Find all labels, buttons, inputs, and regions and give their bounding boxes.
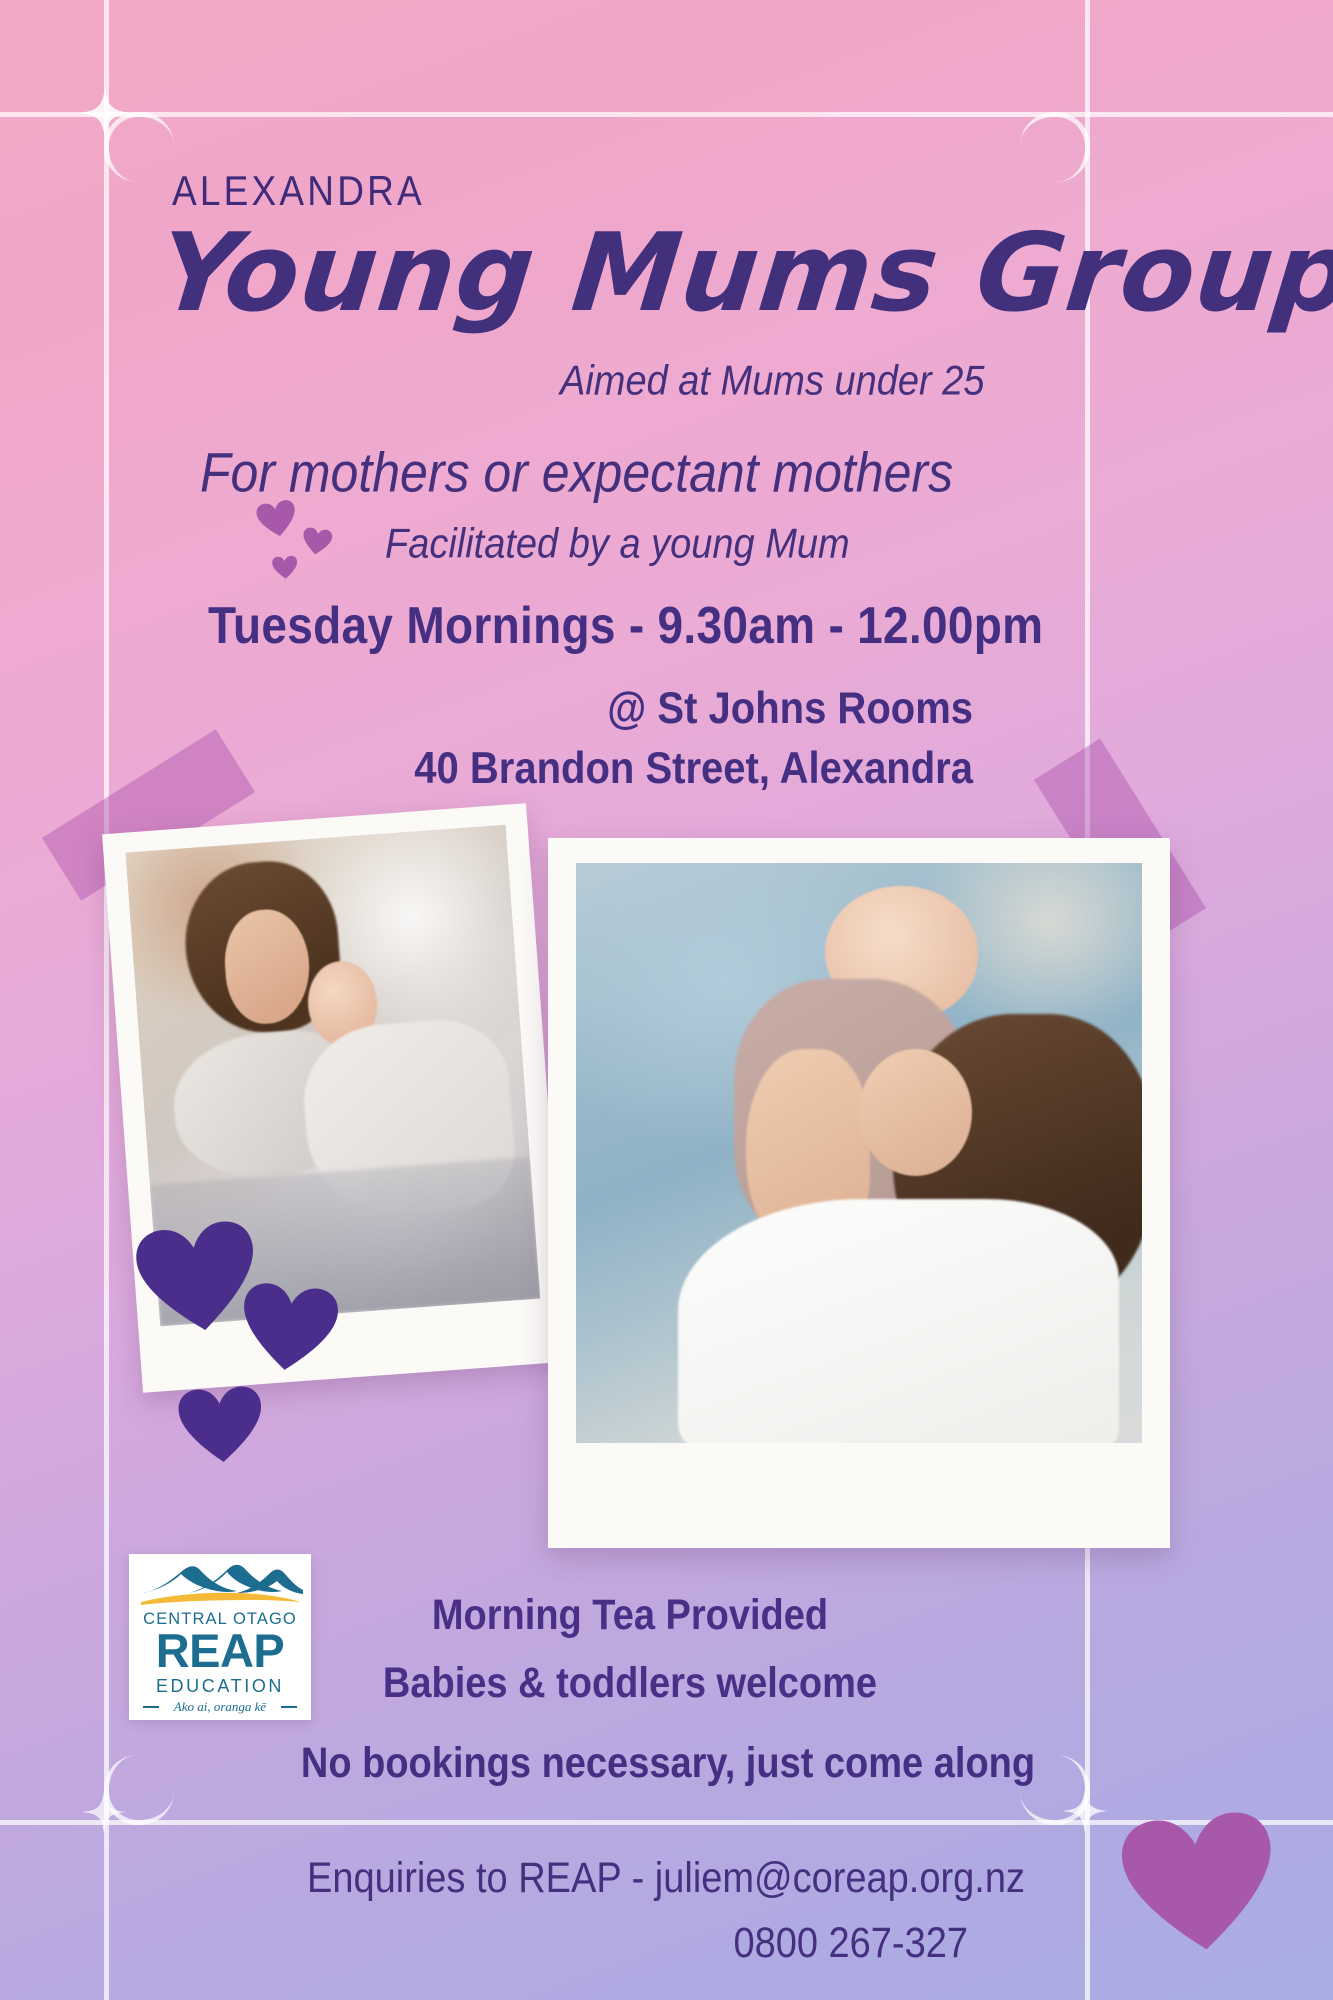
- contact-phone[interactable]: 0800 267-327: [733, 1920, 968, 1968]
- kicker-text: ALEXANDRA: [172, 168, 425, 215]
- poster-canvas: ALEXANDRA Young Mums Group Aimed at Mums…: [0, 0, 1333, 2000]
- note-no-bookings: No bookings necessary, just come along: [301, 1740, 1035, 1788]
- audience-line: For mothers or expectant mothers: [200, 440, 953, 505]
- schedule-line: Tuesday Mornings - 9.30am - 12.00pm: [208, 595, 1043, 655]
- logo-org-sub: EDUCATION: [129, 1676, 311, 1697]
- contact-email-line[interactable]: Enquiries to REAP - juliem@coreap.org.nz: [307, 1855, 1025, 1903]
- note-morning-tea: Morning Tea Provided: [432, 1592, 828, 1640]
- facilitator-line: Facilitated by a young Mum: [385, 521, 850, 568]
- logo-org-main: REAP: [129, 1627, 311, 1674]
- note-babies-welcome: Babies & toddlers welcome: [383, 1660, 877, 1708]
- subtitle-text: Aimed at Mums under 25: [560, 358, 985, 405]
- mountain-icon: [137, 1560, 303, 1608]
- page-title: Young Mums Group: [154, 220, 1195, 328]
- reap-logo: CENTRAL OTAGO REAP EDUCATION Ako ai, ora…: [129, 1554, 311, 1720]
- logo-tagline-rule-right: [281, 1706, 297, 1708]
- venue-address: 40 Brandon Street, Alexandra: [414, 744, 973, 794]
- venue-name: @ St Johns Rooms: [607, 684, 973, 734]
